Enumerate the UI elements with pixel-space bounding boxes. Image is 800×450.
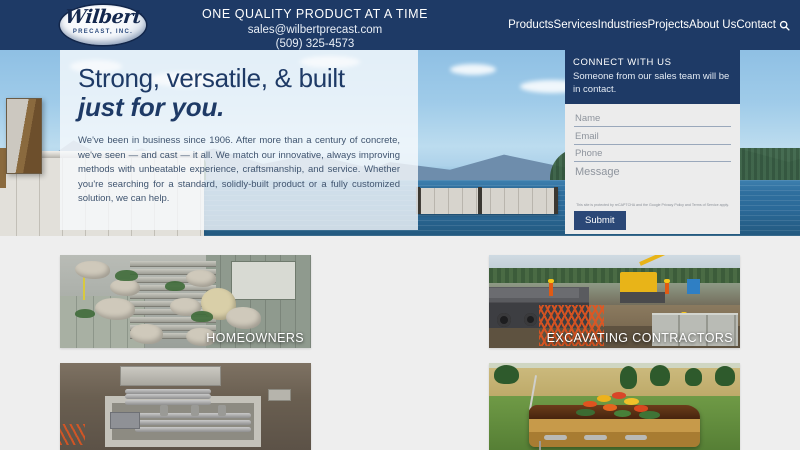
tile-excavating-contractors[interactable]: EXCAVATING CONTRACTORS: [489, 255, 740, 348]
submit-button[interactable]: Submit: [574, 211, 626, 230]
nav-item-projects[interactable]: Projects: [648, 17, 690, 33]
seawall-post: [554, 187, 558, 214]
logo-subtext: PRECAST, INC.: [56, 29, 150, 35]
header-phone-link[interactable]: (509) 325-4573: [150, 37, 480, 51]
phone-field[interactable]: [574, 147, 731, 162]
message-field[interactable]: [574, 165, 731, 181]
form-title: CONNECT WITH US: [573, 56, 732, 69]
tile-label: HOMEOWNERS: [206, 331, 304, 345]
precast-block-seawall: [418, 188, 558, 214]
logo-wordmark: Wilbert: [55, 8, 151, 27]
tile-burial-vaults[interactable]: [489, 363, 740, 450]
hero-paragraph: We've been in business since 1906. After…: [78, 134, 400, 207]
cloud-shape: [450, 64, 496, 75]
site-logo[interactable]: Wilbert PRECAST, INC.: [56, 2, 150, 48]
connect-with-us-form: CONNECT WITH US Someone from our sales t…: [565, 50, 740, 225]
hero-heading-line-1: Strong, versatile, & built: [78, 63, 345, 93]
tile-utility-vault[interactable]: [60, 363, 311, 450]
tile-label: EXCAVATING CONTRACTORS: [547, 331, 733, 345]
site-header: Wilbert PRECAST, INC. ONE QUALITY PRODUC…: [0, 0, 800, 50]
recaptcha-disclaimer: This site is protected by reCAPTCHA and …: [574, 203, 731, 208]
hero-heading: Strong, versatile, & built just for you.: [78, 64, 400, 122]
tile-homeowners[interactable]: HOMEOWNERS: [60, 255, 311, 348]
header-email-link[interactable]: sales@wilbertprecast.com: [150, 23, 480, 37]
nav-item-about-us[interactable]: About Us: [689, 17, 736, 33]
category-tiles: HOMEOWNERS EXCAVATING CONTRACTORS: [0, 236, 800, 450]
email-field[interactable]: [574, 130, 731, 145]
hero-heading-line-2: just for you.: [78, 93, 400, 122]
header-contact-block: ONE QUALITY PRODUCT AT A TIME sales@wilb…: [150, 7, 480, 51]
search-icon[interactable]: [777, 20, 792, 31]
form-header: CONNECT WITH US Someone from our sales t…: [565, 50, 740, 104]
seawall-post: [478, 187, 482, 214]
hero-text-panel: Strong, versatile, & built just for you.…: [60, 50, 418, 230]
tile-image-casket-flowers: [489, 363, 740, 450]
nav-item-products[interactable]: Products: [508, 17, 553, 33]
tile-image-concrete-vault: [60, 363, 311, 450]
precast-monument: [6, 98, 42, 174]
nav-item-contact[interactable]: Contact: [736, 17, 776, 33]
name-field[interactable]: [574, 112, 731, 127]
nav-item-services[interactable]: Services: [554, 17, 598, 33]
header-tagline: ONE QUALITY PRODUCT AT A TIME: [150, 7, 480, 22]
nav-item-industries[interactable]: Industries: [598, 17, 648, 33]
form-subtitle: Someone from our sales team will be in c…: [573, 70, 732, 96]
form-body: This site is protected by reCAPTCHA and …: [565, 104, 740, 234]
main-navigation: Products Services Industries Projects Ab…: [508, 17, 792, 33]
